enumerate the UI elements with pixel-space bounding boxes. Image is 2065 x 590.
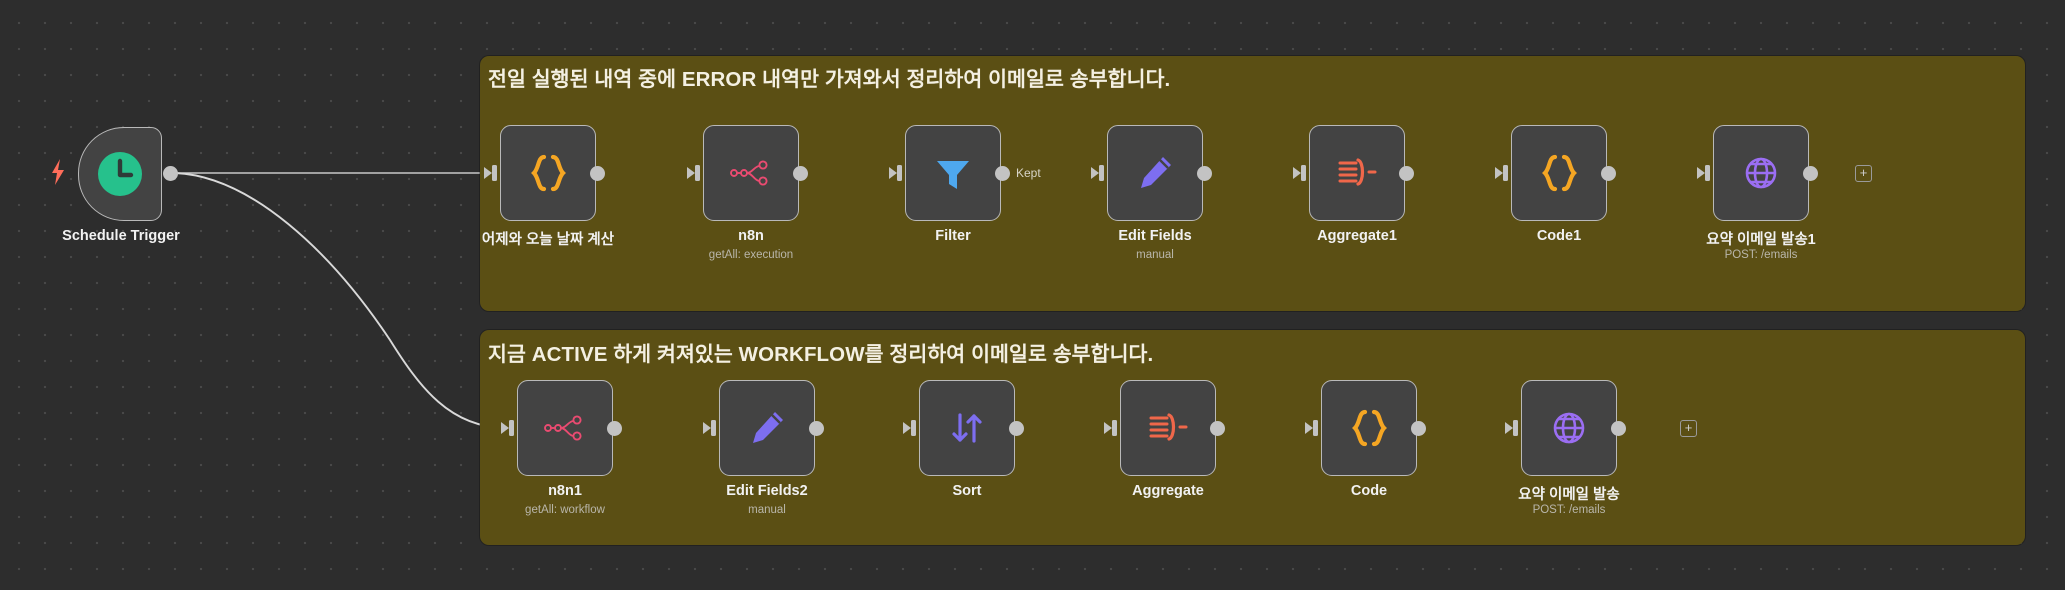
node-sort[interactable] [919,380,1015,476]
clock-icon [94,148,146,200]
node-aggregate1[interactable] [1309,125,1405,221]
code-braces-icon [1346,405,1392,451]
node-summary-email-1-output[interactable] [1803,166,1818,181]
node-code1-output[interactable] [1601,166,1616,181]
edge-label-kept: Kept [1014,166,1043,180]
aggregate-icon [1145,408,1191,448]
code-braces-icon [525,150,571,196]
group-2-title: 지금 ACTIVE 하게 켜져있는 WORKFLOW를 정리하여 이메일로 송부… [488,337,1153,367]
node-n8n-output[interactable] [793,166,808,181]
pencil-icon [745,406,789,450]
node-edit-fields2-output[interactable] [809,421,824,436]
node-code[interactable] [1321,380,1417,476]
node-aggregate[interactable] [1120,380,1216,476]
node-aggregate-input[interactable] [1104,420,1119,436]
aggregate-icon [1334,153,1380,193]
node-summary-email-1-input[interactable] [1697,165,1712,181]
sort-arrows-icon [945,406,989,450]
node-code1[interactable] [1511,125,1607,221]
add-node-button-row-2[interactable]: + [1680,420,1697,437]
node-code-input[interactable] [1305,420,1320,436]
node-sort-output[interactable] [1009,421,1024,436]
workflow-canvas[interactable]: 전일 실행된 내역 중에 ERROR 내역만 가져와서 정리하여 이메일로 송부… [0,0,2065,590]
node-schedule-trigger-label: Schedule Trigger [0,228,251,244]
node-date-calc-input[interactable] [484,165,499,181]
node-edit-fields-output[interactable] [1197,166,1212,181]
funnel-icon [931,151,975,195]
node-n8n1-input[interactable] [501,420,516,436]
node-edit-fields2-input[interactable] [703,420,718,436]
node-summary-email-1-label: 요약 이메일 발송1 [1631,228,1891,249]
node-summary-email-input[interactable] [1505,420,1520,436]
node-summary-email[interactable] [1521,380,1617,476]
node-n8n1-output[interactable] [607,421,622,436]
node-summary-email-label: 요약 이메일 발송 [1439,483,1699,504]
node-edit-fields-sub: manual [1025,249,1285,261]
node-date-calc-output[interactable] [590,166,605,181]
node-aggregate-output[interactable] [1210,421,1225,436]
node-schedule-trigger[interactable] [78,127,162,221]
node-filter-output[interactable] [995,166,1010,181]
n8n-graph-icon [728,158,774,188]
globe-icon [1739,151,1783,195]
node-summary-email-1[interactable] [1713,125,1809,221]
group-1-title: 전일 실행된 내역 중에 ERROR 내역만 가져와서 정리하여 이메일로 송부… [488,62,1170,92]
node-edit-fields2[interactable] [719,380,815,476]
globe-icon [1547,406,1591,450]
n8n-graph-icon [542,413,588,443]
node-edit-fields[interactable] [1107,125,1203,221]
node-n8n1[interactable] [517,380,613,476]
node-code1-input[interactable] [1495,165,1510,181]
node-summary-email-output[interactable] [1611,421,1626,436]
node-aggregate1-input[interactable] [1293,165,1308,181]
node-summary-email-1-sub: POST: /emails [1631,249,1891,261]
node-edit-fields-input[interactable] [1091,165,1106,181]
node-date-calc[interactable] [500,125,596,221]
node-n8n-input[interactable] [687,165,702,181]
pencil-icon [1133,151,1177,195]
node-edit-fields2-sub: manual [637,504,897,516]
add-node-button-row-1[interactable]: + [1855,165,1872,182]
node-aggregate1-output[interactable] [1399,166,1414,181]
node-filter-input[interactable] [889,165,904,181]
node-sort-input[interactable] [903,420,918,436]
node-n8n-sub: getAll: execution [621,249,881,261]
lightning-bolt-icon [50,158,66,186]
node-schedule-trigger-output[interactable] [163,166,178,181]
node-summary-email-sub: POST: /emails [1439,504,1699,516]
node-filter[interactable] [905,125,1001,221]
code-braces-icon [1536,150,1582,196]
node-code-output[interactable] [1411,421,1426,436]
node-n8n[interactable] [703,125,799,221]
